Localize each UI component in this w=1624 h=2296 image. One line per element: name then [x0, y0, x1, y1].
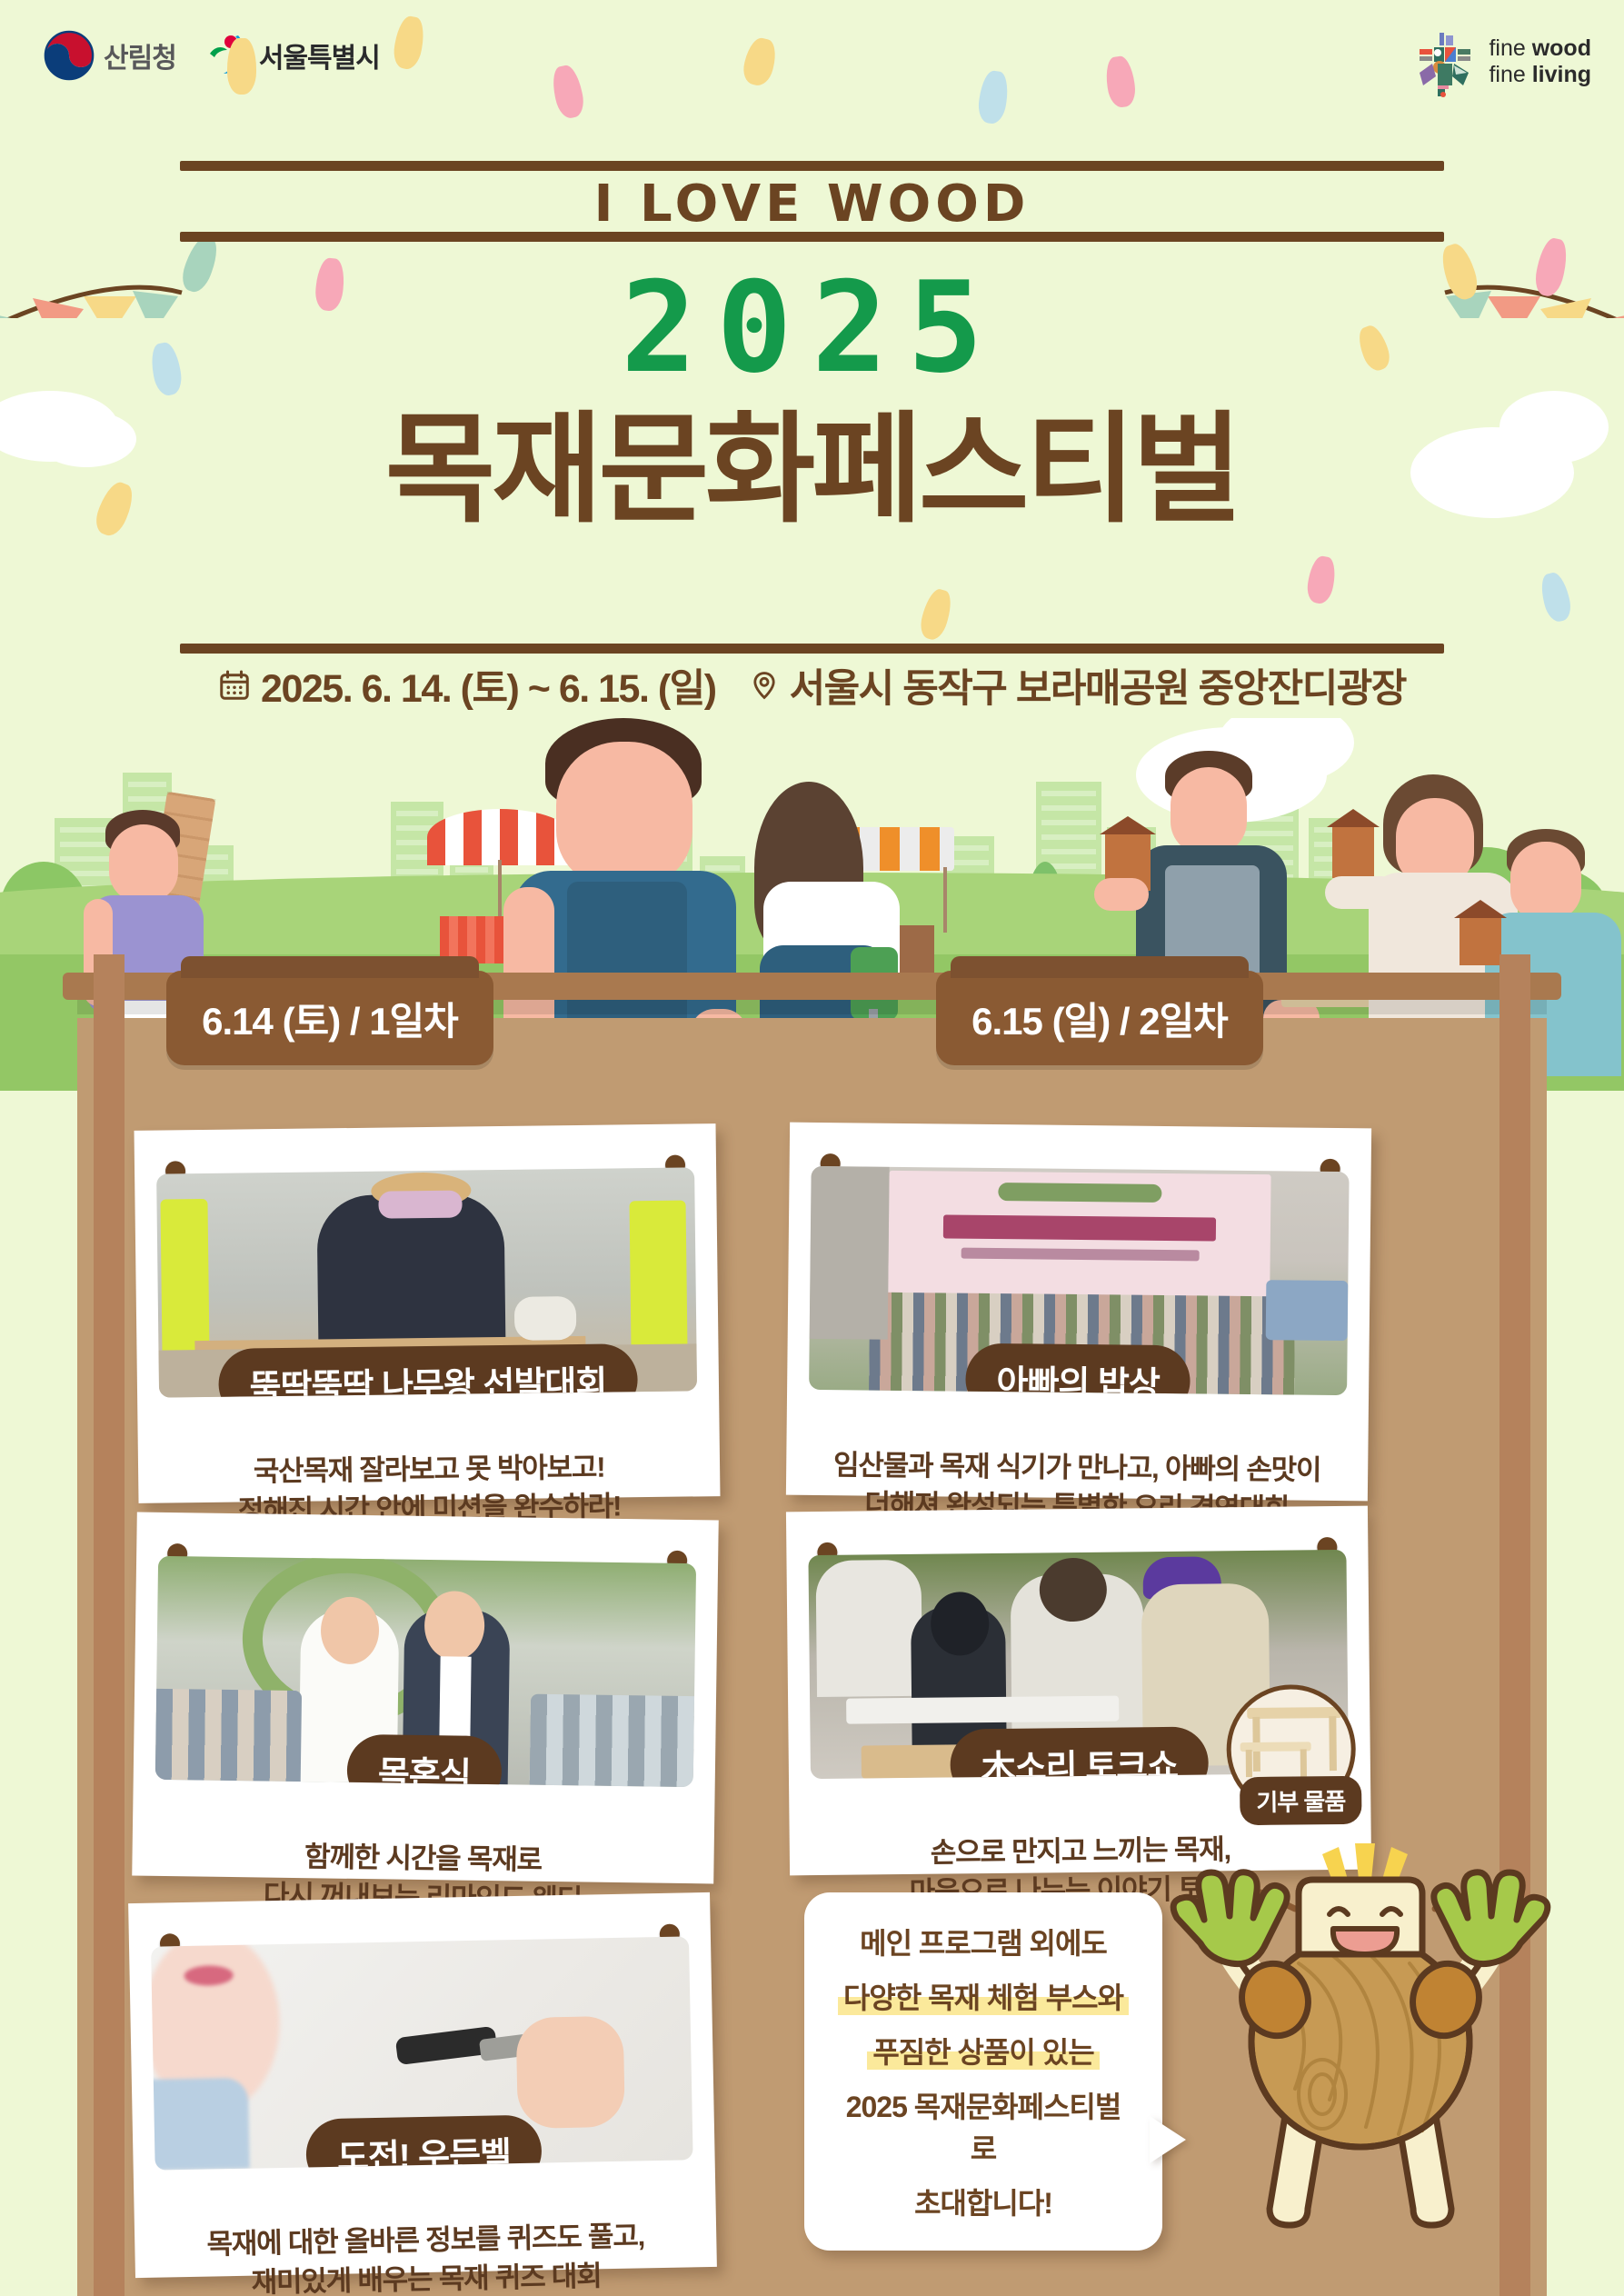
photo-shirt	[151, 2078, 250, 2171]
program-board: 6.14 (토) / 1일차 6.15 (일) / 2일차 뚝딱뚝딱 나무왕 선…	[77, 1018, 1547, 2296]
card-label: 도전! 우든벨	[305, 2115, 542, 2171]
photo-audience	[530, 1694, 694, 1788]
invitation-bubble: 메인 프로그램 외에도 다양한 목재 체험 부스와 푸짐한 상품이 있는 202…	[804, 1892, 1162, 2251]
day-tab-1[interactable]: 6.14 (토) / 1일차	[166, 971, 493, 1065]
photo-girl-head	[931, 1592, 990, 1656]
gift-table-leg	[1329, 1716, 1337, 1771]
scene-arm	[1325, 876, 1398, 909]
calendar-icon	[218, 669, 251, 702]
card-moksori-talkshow[interactable]: 木소리 토크쇼 기부 물품 손으로 만지고 느끼는 목재, 마음으로 나누는 이…	[786, 1506, 1371, 1876]
confetti-piece	[1538, 570, 1574, 624]
korea-forest-service-icon	[43, 29, 95, 82]
card-description: 목재에 대한 올바른 정보를 퀴즈도 풀고, 재미있게 배우는 목재 퀴즈 대회	[156, 2216, 696, 2296]
map-pin-icon	[749, 670, 780, 701]
event-date-group: 2025. 6. 14. (토) ~ 6. 15. (일)	[218, 657, 716, 714]
page-title: 목재문화페스티벌	[0, 407, 1624, 534]
photo-glove	[514, 1296, 577, 1341]
card-desc-line1: 임산물과 목재 식기가 만나고, 아빠의 손맛이	[808, 1446, 1346, 1491]
logo-label-forest: 산림청	[104, 35, 176, 75]
bubble-line-1: 메인 프로그램 외에도	[860, 1921, 1107, 1962]
wood-mascot	[1161, 1827, 1560, 2254]
scene-mini-house	[1460, 916, 1501, 965]
poster-root: 산림청 서울특별시	[0, 0, 1624, 2296]
photo-building	[810, 1166, 890, 1340]
government-logos: 산림청 서울특별시	[43, 29, 380, 82]
fine-wood-fine-living-logo: fine wood fine living	[1412, 25, 1591, 98]
title-rule-top	[180, 161, 1444, 171]
photo-banner-ribbon	[998, 1183, 1161, 1203]
card-label: 목혼식	[346, 1734, 502, 1787]
photo-goggles	[378, 1191, 462, 1219]
scene-head	[1510, 842, 1581, 920]
board-post-left	[94, 954, 125, 2296]
photo-hand	[516, 2016, 625, 2129]
event-meta: 2025. 6. 14. (토) ~ 6. 15. (일) 서울시 동작구 보라…	[0, 657, 1624, 714]
confetti-piece	[1305, 554, 1339, 605]
photo-banner-title	[943, 1214, 1216, 1241]
confetti-piece	[227, 38, 256, 95]
gift-bench-leg	[1246, 1750, 1252, 1777]
card-appabapsang[interactable]: 아빠의 밥상 임산물과 목재 식기가 만나고, 아빠의 손맛이 더해져 완성되는…	[786, 1123, 1371, 1502]
card-photo: 아빠의 밥상	[809, 1166, 1350, 1395]
photo-person-left	[815, 1560, 922, 1697]
fine-wood-tree-icon	[1412, 25, 1476, 98]
brand-line2-light: fine	[1489, 62, 1525, 87]
fine-wood-fine-living-text: fine wood fine living	[1489, 35, 1591, 89]
brand-line2-bold: living	[1532, 62, 1591, 87]
title-rule-bottom	[180, 644, 1444, 654]
card-photo: 도전! 우든벨	[151, 1936, 693, 2170]
event-venue-text: 서울시 동작구 보라매공원 중앙잔디광장	[790, 657, 1406, 714]
event-date-text: 2025. 6. 14. (토) ~ 6. 15. (일)	[261, 657, 716, 714]
scene-arm	[1094, 878, 1149, 911]
day-tab-2[interactable]: 6.15 (일) / 2일차	[936, 971, 1263, 1065]
logo-label-seoul: 서울특별시	[259, 35, 380, 75]
photo-tent	[1266, 1280, 1349, 1341]
card-photo: 뚝딱뚝딱 나무왕 선발대회	[156, 1167, 697, 1397]
card-namuwang[interactable]: 뚝딱뚝딱 나무왕 선발대회 국산목재 잘라보고 못 박아보고! 정해진 시간 안…	[135, 1123, 721, 1503]
card-woodenbell[interactable]: 도전! 우든벨 목재에 대한 올바른 정보를 퀴즈도 풀고, 재미있게 배우는 …	[128, 1892, 717, 2278]
brand-line1-light: fine	[1489, 35, 1525, 61]
card-photo: 목혼식	[155, 1556, 696, 1787]
year-title: 2025	[0, 255, 1624, 401]
bubble-line-2: 다양한 목재 체험 부스와	[838, 1975, 1129, 2017]
card-label: 木소리 토크쇼	[950, 1727, 1209, 1780]
event-venue-group: 서울시 동작구 보라매공원 중앙잔디광장	[749, 657, 1406, 714]
bubble-line-5: 초대합니다!	[914, 2181, 1052, 2222]
donation-badge: 기부 물품	[1240, 1776, 1361, 1825]
confetti-piece	[917, 586, 955, 643]
logo-korea-forest-service: 산림청	[43, 29, 176, 82]
card-label: 뚝딱뚝딱 나무왕 선발대회	[218, 1343, 638, 1397]
scene-head	[1171, 767, 1247, 854]
scene-head	[556, 742, 692, 887]
photo-table	[846, 1696, 1119, 1724]
photo-audience	[155, 1689, 302, 1782]
gift-bench-leg	[1300, 1749, 1307, 1776]
card-mokhonsik[interactable]: 목혼식 함께한 시간을 목재로 다시 꺼내보는 리마인드 웨딩	[132, 1512, 719, 1884]
gift-table-top	[1247, 1707, 1341, 1719]
scene-head	[109, 824, 178, 903]
scene-mini-house	[1332, 825, 1374, 878]
card-desc-line1: 국산목재 잘라보고 못 박아보고!	[160, 1447, 698, 1492]
brand-line1-bold: wood	[1532, 35, 1591, 61]
card-label: 아빠의 밥상	[965, 1343, 1191, 1395]
bubble-line-4: 2025 목재문화페스티벌로	[837, 2084, 1130, 2168]
eyebrow-title: I LOVE WOOD	[0, 175, 1624, 234]
bubble-line-3: 푸짐한 상품이 있는	[867, 2030, 1099, 2071]
